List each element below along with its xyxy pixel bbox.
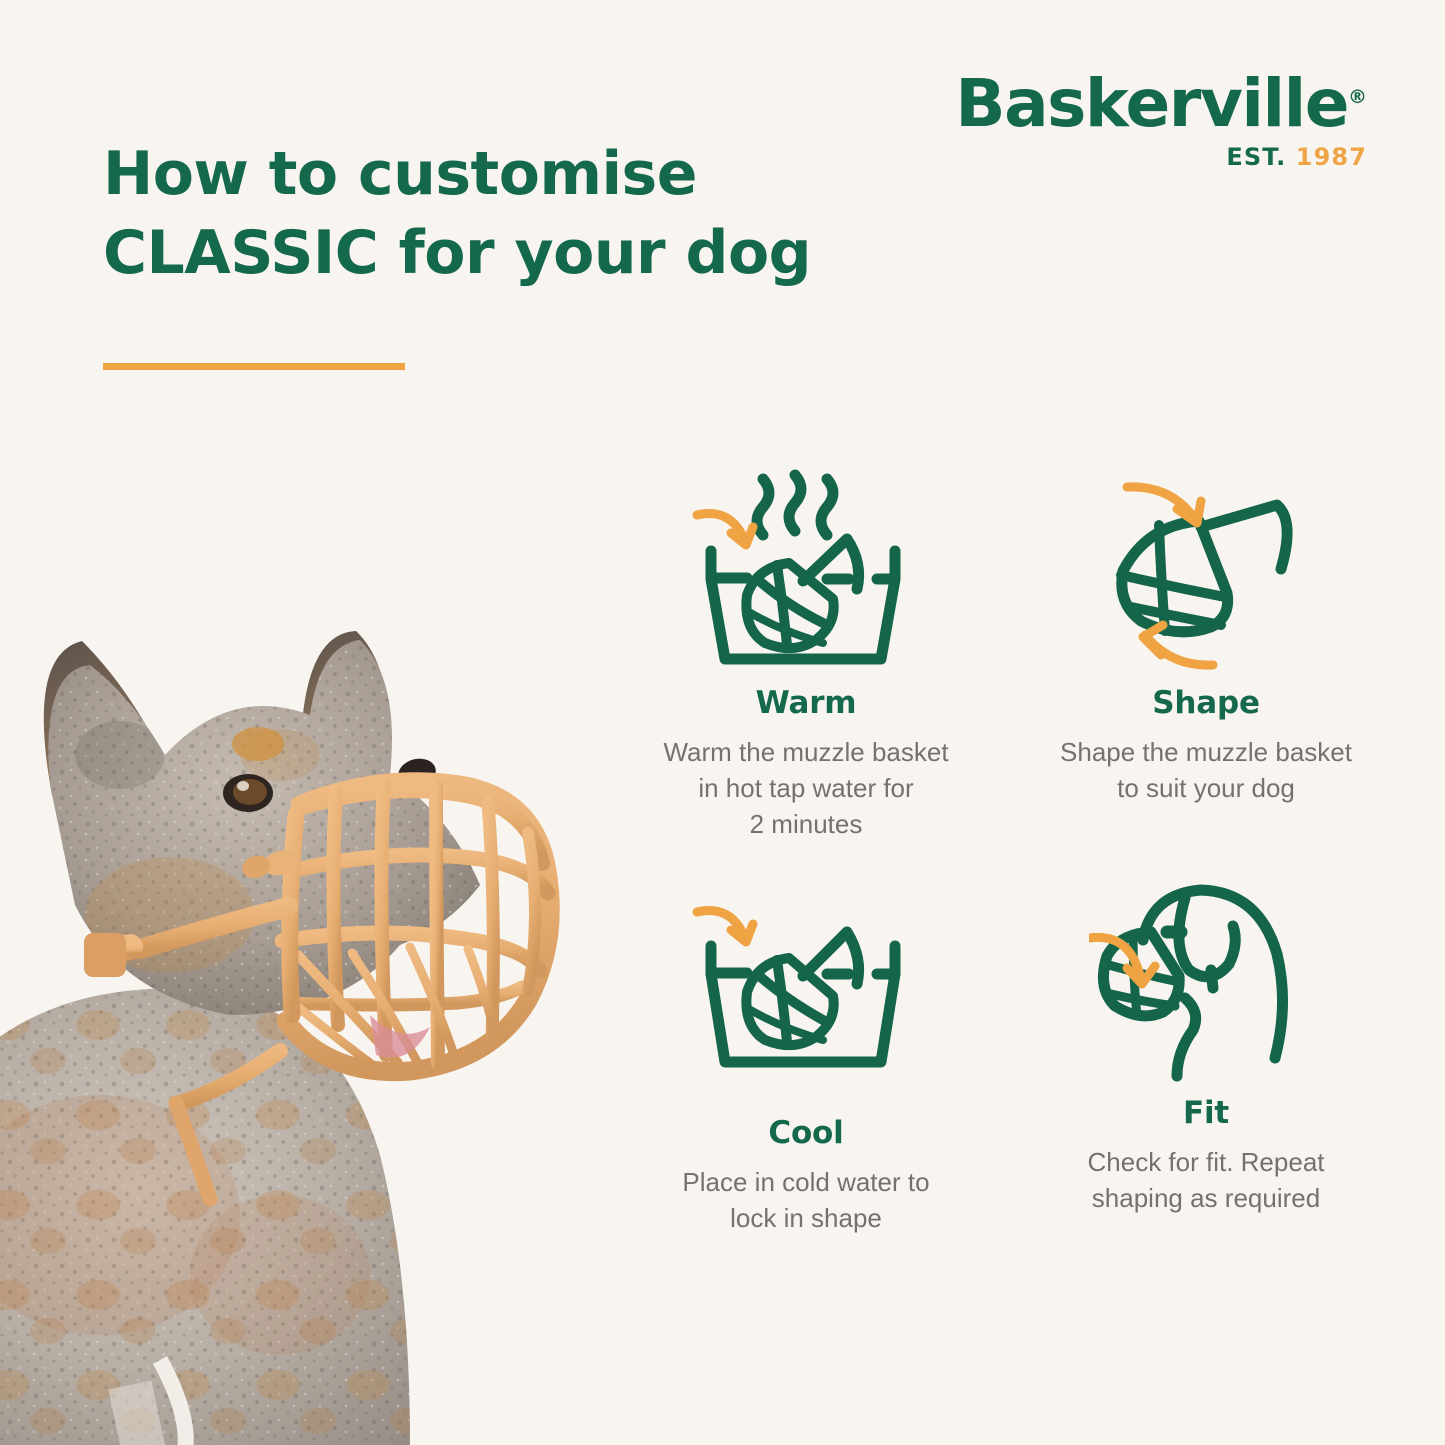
page-title-line-1: How to customise bbox=[103, 135, 863, 214]
page-title-line-2: CLASSIC for your dog bbox=[103, 214, 863, 293]
step-cool-body: Place in cold water to lock in shape bbox=[620, 1165, 992, 1237]
step-warm-body: Warm the muzzle basket in hot tap water … bbox=[620, 735, 992, 843]
brand-established: EST. 1987 bbox=[955, 143, 1367, 171]
step-shape-title: Shape bbox=[1020, 685, 1392, 721]
page-title: How to customise CLASSIC for your dog bbox=[103, 135, 863, 293]
established-year: 1987 bbox=[1296, 143, 1367, 171]
warm-water-basin-icon bbox=[620, 455, 992, 685]
step-warm: Warm Warm the muzzle basket in hot tap w… bbox=[620, 455, 992, 843]
brand-logo: Baskerville® EST. 1987 bbox=[955, 72, 1367, 171]
poster-root: Baskerville® EST. 1987 How to customise … bbox=[0, 0, 1445, 1445]
dog-head-fit-icon bbox=[1020, 875, 1392, 1095]
registered-trademark-icon: ® bbox=[1348, 86, 1367, 108]
established-label: EST. bbox=[1226, 143, 1286, 171]
step-fit-title: Fit bbox=[1020, 1095, 1392, 1131]
title-underline-divider bbox=[103, 363, 405, 370]
steps-grid: Warm Warm the muzzle basket in hot tap w… bbox=[620, 455, 1410, 1285]
step-warm-title: Warm bbox=[620, 685, 992, 721]
dog-with-muzzle-photo bbox=[0, 455, 600, 1445]
brand-wordmark: Baskerville® bbox=[955, 72, 1367, 137]
step-cool: Cool Place in cold water to lock in shap… bbox=[620, 885, 992, 1237]
step-shape: Shape Shape the muzzle basket to suit yo… bbox=[1020, 465, 1392, 807]
brand-wordmark-text: Baskerville bbox=[955, 65, 1348, 142]
step-cool-title: Cool bbox=[620, 1115, 992, 1151]
shape-muzzle-arrows-icon bbox=[1020, 465, 1392, 685]
step-shape-body: Shape the muzzle basket to suit your dog bbox=[1020, 735, 1392, 807]
cool-water-basin-icon bbox=[620, 885, 992, 1115]
step-fit-body: Check for fit. Repeat shaping as require… bbox=[1020, 1145, 1392, 1217]
step-fit: Fit Check for fit. Repeat shaping as req… bbox=[1020, 875, 1392, 1217]
